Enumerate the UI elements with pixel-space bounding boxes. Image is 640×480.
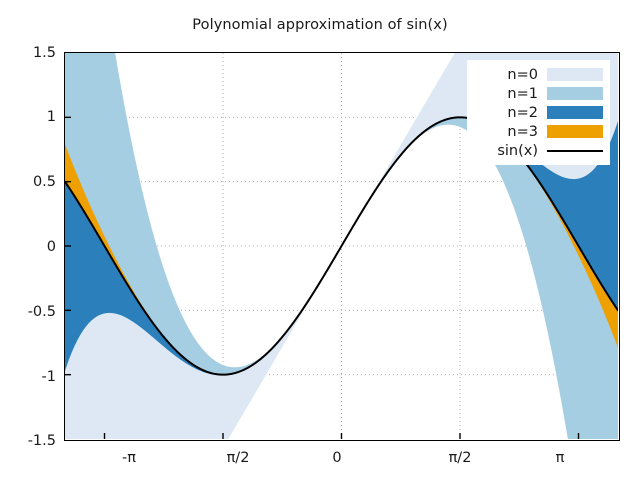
legend-swatch-n0 bbox=[547, 68, 603, 81]
legend-item-n3[interactable]: n=3 bbox=[472, 122, 603, 141]
legend-line-sin bbox=[547, 144, 603, 157]
legend-item-n0[interactable]: n=0 bbox=[472, 65, 603, 84]
legend-swatch-n1 bbox=[547, 87, 603, 100]
y-tick-label-0: 0 bbox=[0, 239, 56, 255]
y-tick-label-neg1_5: -1.5 bbox=[0, 433, 56, 449]
y-tick-label-1_5: 1.5 bbox=[0, 45, 56, 61]
chart-figure: Polynomial approximation of sin(x) 1.5 1… bbox=[0, 0, 640, 480]
legend-swatch-n2 bbox=[547, 106, 603, 119]
x-tick-label-neg-pi-2: π/2 bbox=[203, 450, 273, 466]
y-tick-label-0_5: 0.5 bbox=[0, 174, 56, 190]
legend-item-sin[interactable]: sin(x) bbox=[472, 141, 603, 160]
x-tick-label-neg-pi: -π bbox=[94, 450, 164, 466]
legend-label-n3: n=3 bbox=[507, 124, 547, 140]
legend-label-sin: sin(x) bbox=[497, 143, 547, 159]
y-tick-label-neg1: -1 bbox=[0, 369, 56, 385]
x-tick-label-pi-2: π/2 bbox=[425, 450, 495, 466]
y-tick-label-1: 1 bbox=[0, 109, 56, 125]
chart-legend: n=0 n=1 n=2 n=3 sin(x) bbox=[467, 60, 610, 165]
legend-item-n2[interactable]: n=2 bbox=[472, 103, 603, 122]
legend-item-n1[interactable]: n=1 bbox=[472, 84, 603, 103]
x-tick-label-zero: 0 bbox=[302, 450, 372, 466]
y-tick-label-neg0_5: -0.5 bbox=[0, 304, 56, 320]
legend-swatch-n3 bbox=[547, 125, 603, 138]
legend-label-n1: n=1 bbox=[507, 86, 547, 102]
legend-label-n0: n=0 bbox=[507, 67, 547, 83]
legend-label-n2: n=2 bbox=[507, 105, 547, 121]
chart-title: Polynomial approximation of sin(x) bbox=[0, 17, 640, 33]
x-tick-label-pi: π bbox=[525, 450, 595, 466]
